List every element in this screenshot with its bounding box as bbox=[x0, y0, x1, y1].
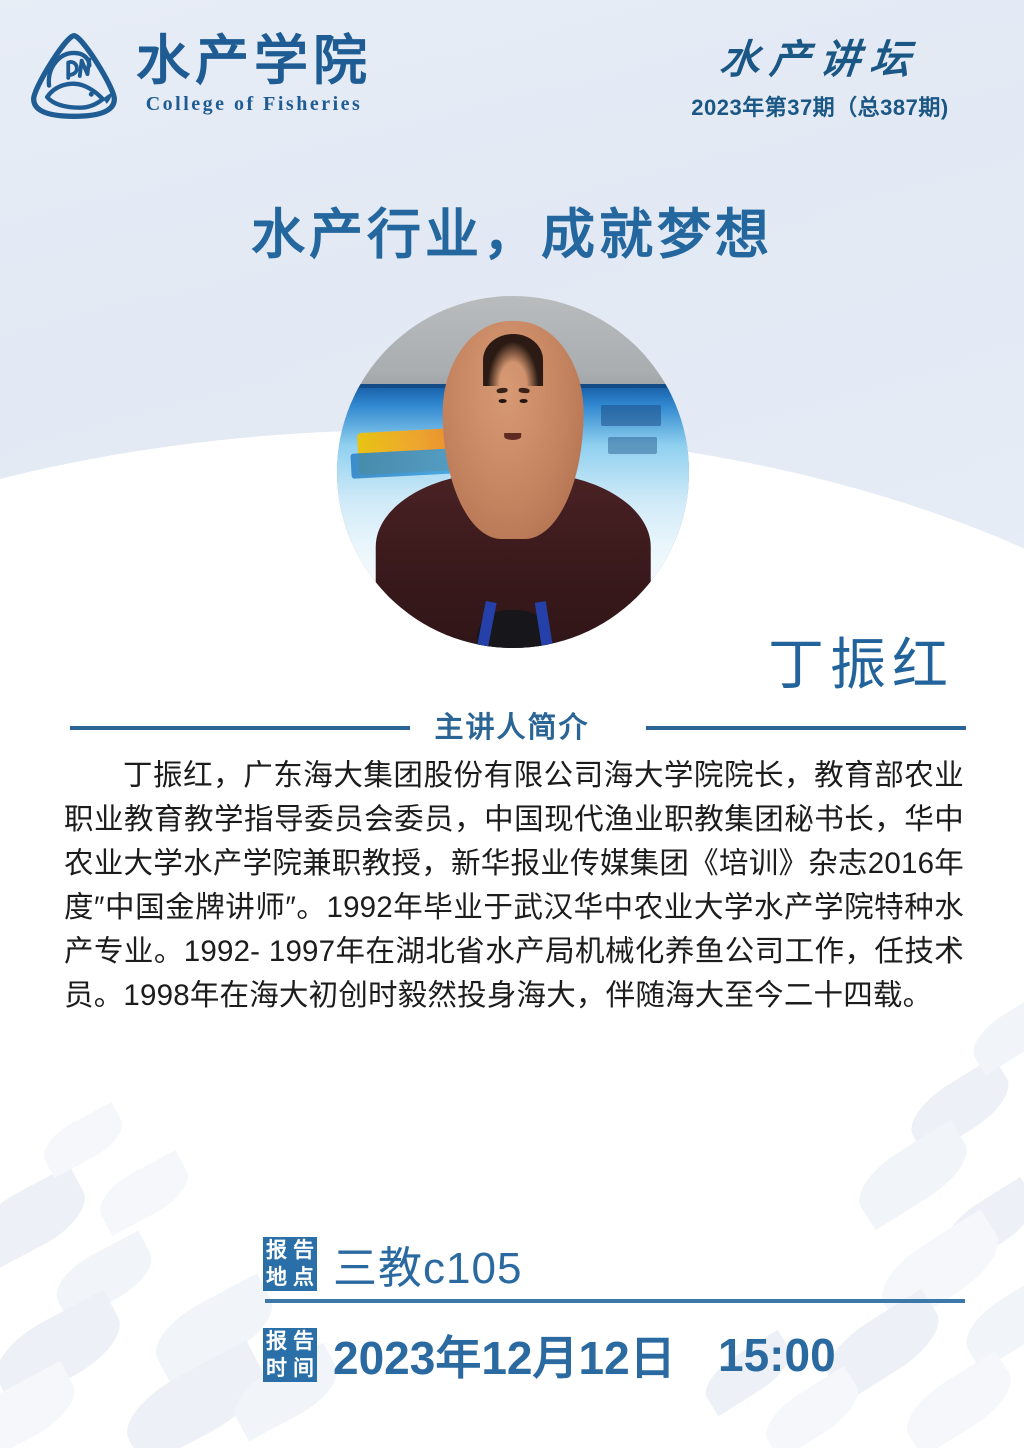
report-clock-value: 15:00 bbox=[718, 1328, 836, 1382]
forum-title: 水产讲坛 bbox=[668, 38, 973, 82]
poster-header: 水产学院 College of Fisheries 水产讲坛 2023年第37期… bbox=[0, 0, 1024, 140]
portrait-banner-right-text-1 bbox=[601, 405, 661, 426]
badge-char-2: 告 bbox=[293, 1240, 314, 1261]
forum-masthead: 水产讲坛 2023年第37期（总387期) bbox=[670, 38, 970, 122]
speaker-name: 丁振红 bbox=[768, 620, 954, 701]
badge-char-4: 间 bbox=[293, 1358, 314, 1379]
heading-label: 主讲人简介 bbox=[0, 704, 1024, 746]
college-name-en: College of Fisheries bbox=[136, 93, 372, 116]
portrait-eyebrow-right bbox=[518, 388, 530, 394]
report-location-badge: 报告地点 bbox=[263, 1237, 317, 1291]
college-logo-text: 水产学院 College of Fisheries bbox=[136, 34, 372, 117]
badge-char-1: 报 bbox=[266, 1331, 287, 1352]
portrait-eye-right bbox=[519, 399, 527, 403]
report-time-badge: 报告时间 bbox=[263, 1328, 317, 1382]
badge-char-4: 点 bbox=[293, 1267, 314, 1288]
badge-char-2: 告 bbox=[293, 1331, 314, 1352]
portrait-head bbox=[443, 321, 584, 539]
report-location-value: 三教c105 bbox=[333, 1232, 522, 1296]
footer-divider bbox=[265, 1299, 965, 1303]
college-logo: 水产学院 College of Fisheries bbox=[26, 28, 372, 124]
page-title: 水产行业，成就梦想 bbox=[0, 190, 1024, 269]
portrait-banner-right-text-2 bbox=[608, 437, 657, 455]
speaker-portrait bbox=[337, 296, 689, 648]
portrait-eyebrow-left bbox=[496, 388, 508, 394]
portrait-mouth bbox=[505, 433, 522, 440]
badge-char-1: 报 bbox=[266, 1240, 287, 1261]
poster-root: 水产学院 College of Fisheries 水产讲坛 2023年第37期… bbox=[0, 0, 1024, 1448]
portrait-eye-left bbox=[498, 399, 506, 403]
bio-section-heading: 主讲人简介 bbox=[0, 704, 1024, 744]
report-location-row: 报告地点 三教c105 bbox=[263, 1232, 522, 1296]
report-time-row: 报告时间 2023年12月12日 bbox=[263, 1322, 676, 1388]
badge-char-3: 地 bbox=[266, 1267, 287, 1288]
fisheries-fish-badge-icon bbox=[26, 28, 122, 124]
forum-issue-number: 2023年第37期（总387期) bbox=[670, 90, 970, 122]
portrait-hair bbox=[483, 334, 542, 386]
college-name-cn: 水产学院 bbox=[136, 34, 372, 89]
report-date-value: 2023年12月12日 bbox=[333, 1322, 676, 1388]
badge-char-3: 时 bbox=[266, 1358, 287, 1379]
speaker-bio: 丁振红，广东海大集团股份有限公司海大学院院长，教育部农业职业教育教学指导委员会委… bbox=[64, 754, 964, 1018]
